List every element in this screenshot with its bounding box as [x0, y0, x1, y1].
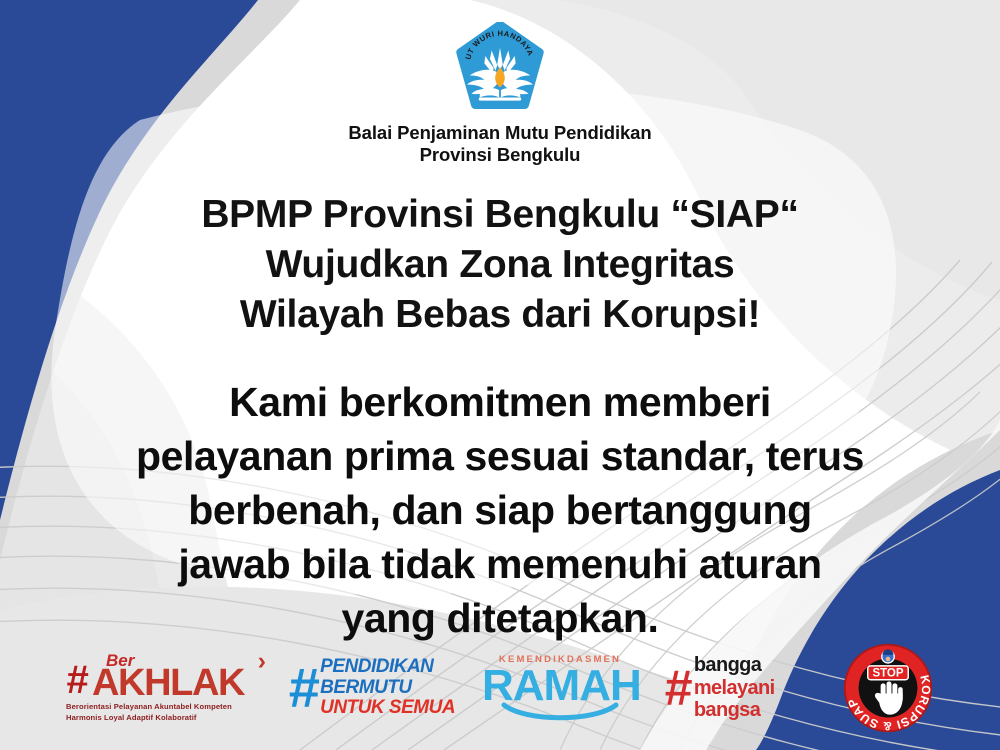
body-line1: Kami berkomitmen memberi	[0, 375, 1000, 429]
kemendikdasmen-ramah-logo: KEMENDIKDASMEN RAMAH	[482, 654, 638, 722]
pendidikan-bermutu-logo: # PENDIDIKAN BERMUTU UNTUK SEMUA	[288, 657, 456, 719]
stop-label: STOP	[872, 668, 903, 680]
body-line2: pelayanan prima sesuai standar, terus	[0, 429, 1000, 483]
akhlak-tagline-line2: Harmonis Loyal Adaptif Kolaboratif	[66, 713, 262, 723]
poster-header: TUT WURI HANDAYANI	[0, 22, 1000, 166]
pendidikan-line1: PENDIDIKAN	[320, 657, 455, 678]
bangga-melayani-bangsa-logo: # bangga melayani bangsa	[664, 654, 816, 722]
body-line3: berbenah, dan siap bertanggung	[0, 483, 1000, 537]
bangga-line1: bangga	[694, 654, 775, 677]
tut-wuri-handayani-crest-icon: TUT WURI HANDAYANI	[454, 22, 546, 114]
org-name-line2: Provinsi Bengkulu	[0, 144, 1000, 166]
body-line4: jawab bila tidak memenuhi aturan	[0, 537, 1000, 591]
akhlak-hash-icon: #	[66, 663, 86, 697]
org-name-line1: Balai Penjaminan Mutu Pendidikan	[348, 122, 651, 143]
bangga-line2: melayani	[694, 677, 775, 700]
headline-line3: Wilayah Bebas dari Korupsi!	[0, 290, 1000, 340]
headline: BPMP Provinsi Bengkulu “SIAP“ Wujudkan Z…	[0, 190, 1000, 340]
berakhlak-logo: # Ber AKHLAK › Berorientasi Pelayanan Ak…	[66, 653, 262, 723]
stop-korupsi-suap-badge: KORUPSI & SUAP STOP	[842, 642, 934, 734]
akhlak-wordmark: AKHLAK	[92, 664, 244, 702]
bangga-hash-icon: #	[664, 668, 689, 708]
ramah-wordmark: RAMAH	[482, 664, 638, 708]
poster-canvas: TUT WURI HANDAYANI	[0, 0, 1000, 750]
commitment-statement: Kami berkomitmen memberi pelayanan prima…	[0, 375, 1000, 646]
headline-line2: Wujudkan Zona Integritas	[0, 240, 1000, 290]
logo-strip: # Ber AKHLAK › Berorientasi Pelayanan Ak…	[0, 638, 1000, 738]
headline-line1: BPMP Provinsi Bengkulu “SIAP“	[0, 190, 1000, 240]
organization-name: Balai Penjaminan Mutu Pendidikan Provins…	[0, 122, 1000, 166]
pendidikan-line3: UNTUK SEMUA	[320, 698, 455, 719]
pendidikan-line2: BERMUTU	[320, 678, 455, 699]
pendidikan-hash-icon: #	[288, 666, 316, 711]
bangga-line3: bangsa	[694, 699, 775, 722]
akhlak-caret-icon: ›	[258, 647, 266, 676]
